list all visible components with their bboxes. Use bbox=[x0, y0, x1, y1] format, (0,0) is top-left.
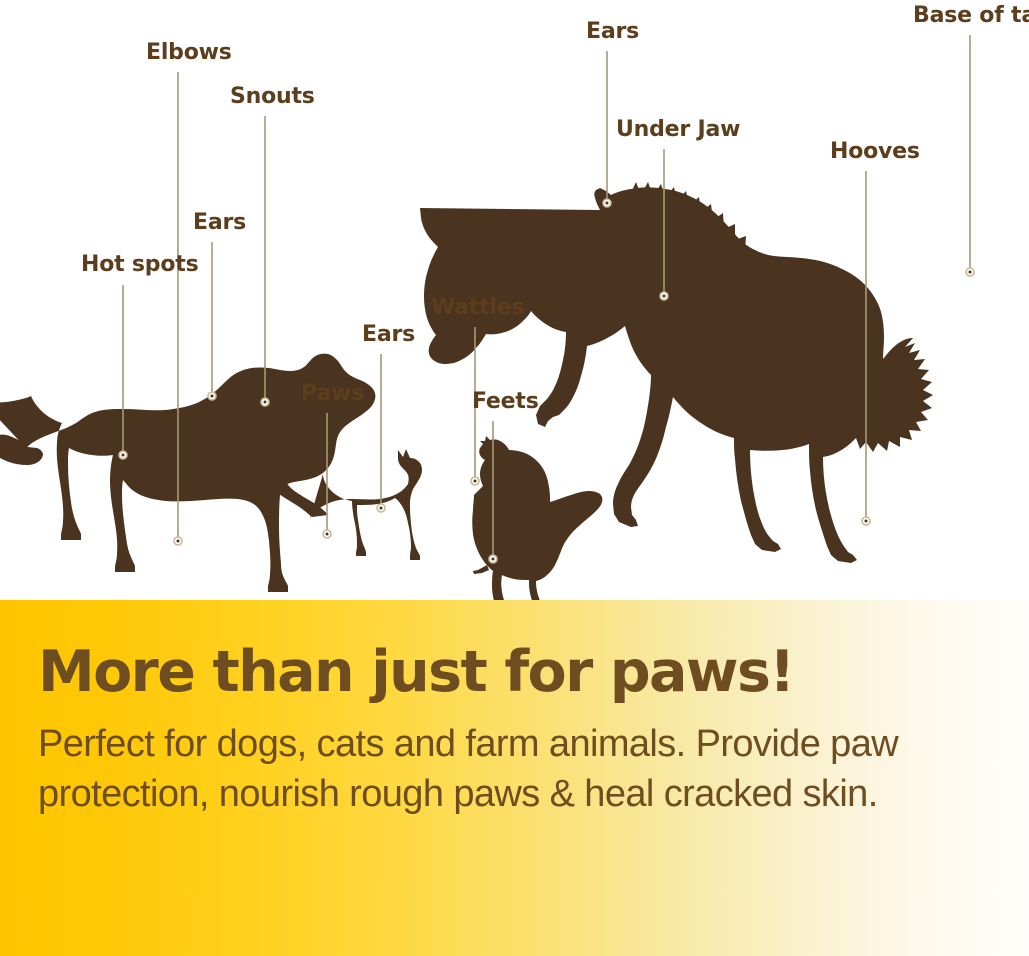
marker-core-base-of-tail bbox=[969, 271, 972, 274]
promo-banner: More than just for paws! Perfect for dog… bbox=[0, 600, 1029, 956]
callout-label-hooves: Hooves bbox=[830, 141, 920, 163]
chicken-silhouette bbox=[472, 436, 602, 600]
animal-illustration-panel: Hot spotsElbowsEarsSnoutsPawsEarsWattles… bbox=[0, 0, 1029, 600]
callout-label-dog-ears: Ears bbox=[193, 212, 246, 234]
marker-core-wattles bbox=[474, 480, 477, 483]
callout-label-snouts: Snouts bbox=[230, 86, 315, 108]
callout-label-horse-ears: Ears bbox=[586, 21, 639, 43]
callout-label-elbows: Elbows bbox=[146, 42, 232, 64]
marker-core-feets bbox=[492, 558, 495, 561]
callout-label-feets: Feets bbox=[472, 391, 539, 413]
callout-label-cat-ears: Ears bbox=[362, 324, 415, 346]
marker-core-under-jaw bbox=[663, 295, 666, 298]
marker-core-hot-spots bbox=[122, 454, 125, 457]
callout-label-hot-spots: Hot spots bbox=[81, 254, 198, 276]
promo-headline: More than just for paws! bbox=[38, 644, 999, 701]
product-infographic: Hot spotsElbowsEarsSnoutsPawsEarsWattles… bbox=[0, 0, 1029, 956]
marker-core-dog-ears bbox=[211, 395, 214, 398]
callout-label-under-jaw: Under Jaw bbox=[616, 119, 740, 141]
marker-core-elbows bbox=[177, 540, 180, 543]
callout-label-paws: Paws bbox=[301, 383, 364, 405]
marker-core-hooves bbox=[865, 520, 868, 523]
promo-body-text: Perfect for dogs, cats and farm animals.… bbox=[38, 719, 988, 819]
callout-label-base-of-tail: Base of tail bbox=[913, 5, 1029, 27]
callout-label-wattles: Wattles bbox=[431, 297, 525, 319]
marker-core-paws bbox=[326, 533, 329, 536]
marker-core-cat-ears bbox=[380, 507, 383, 510]
marker-core-horse-ears bbox=[606, 202, 609, 205]
marker-core-snouts bbox=[264, 401, 267, 404]
promo-banner-content: More than just for paws! Perfect for dog… bbox=[38, 644, 999, 819]
